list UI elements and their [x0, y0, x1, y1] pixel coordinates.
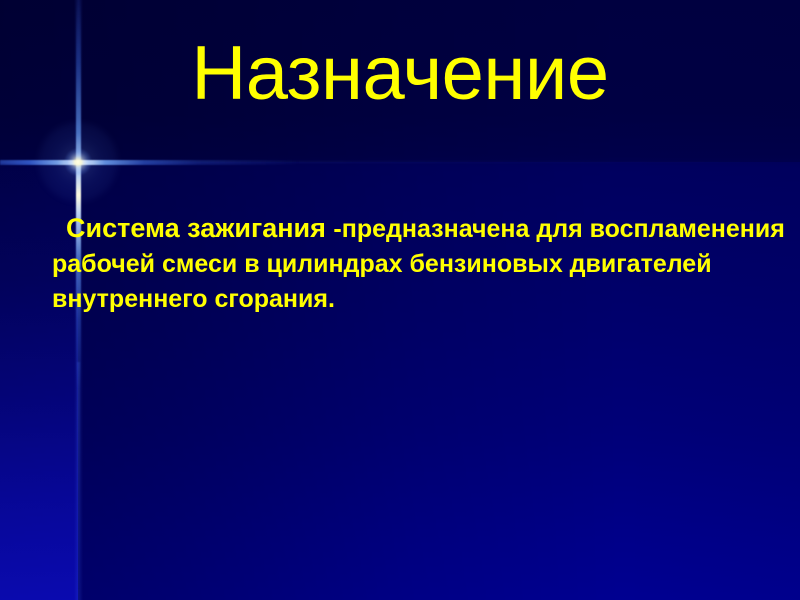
slide-body-text: Система зажигания -предназначена для вос… — [52, 211, 788, 317]
presentation-slide: Назначение Система зажигания -предназнач… — [0, 0, 800, 600]
slide-title: Назначение — [0, 36, 800, 112]
slide-body-lead: Система зажигания — [66, 213, 333, 243]
